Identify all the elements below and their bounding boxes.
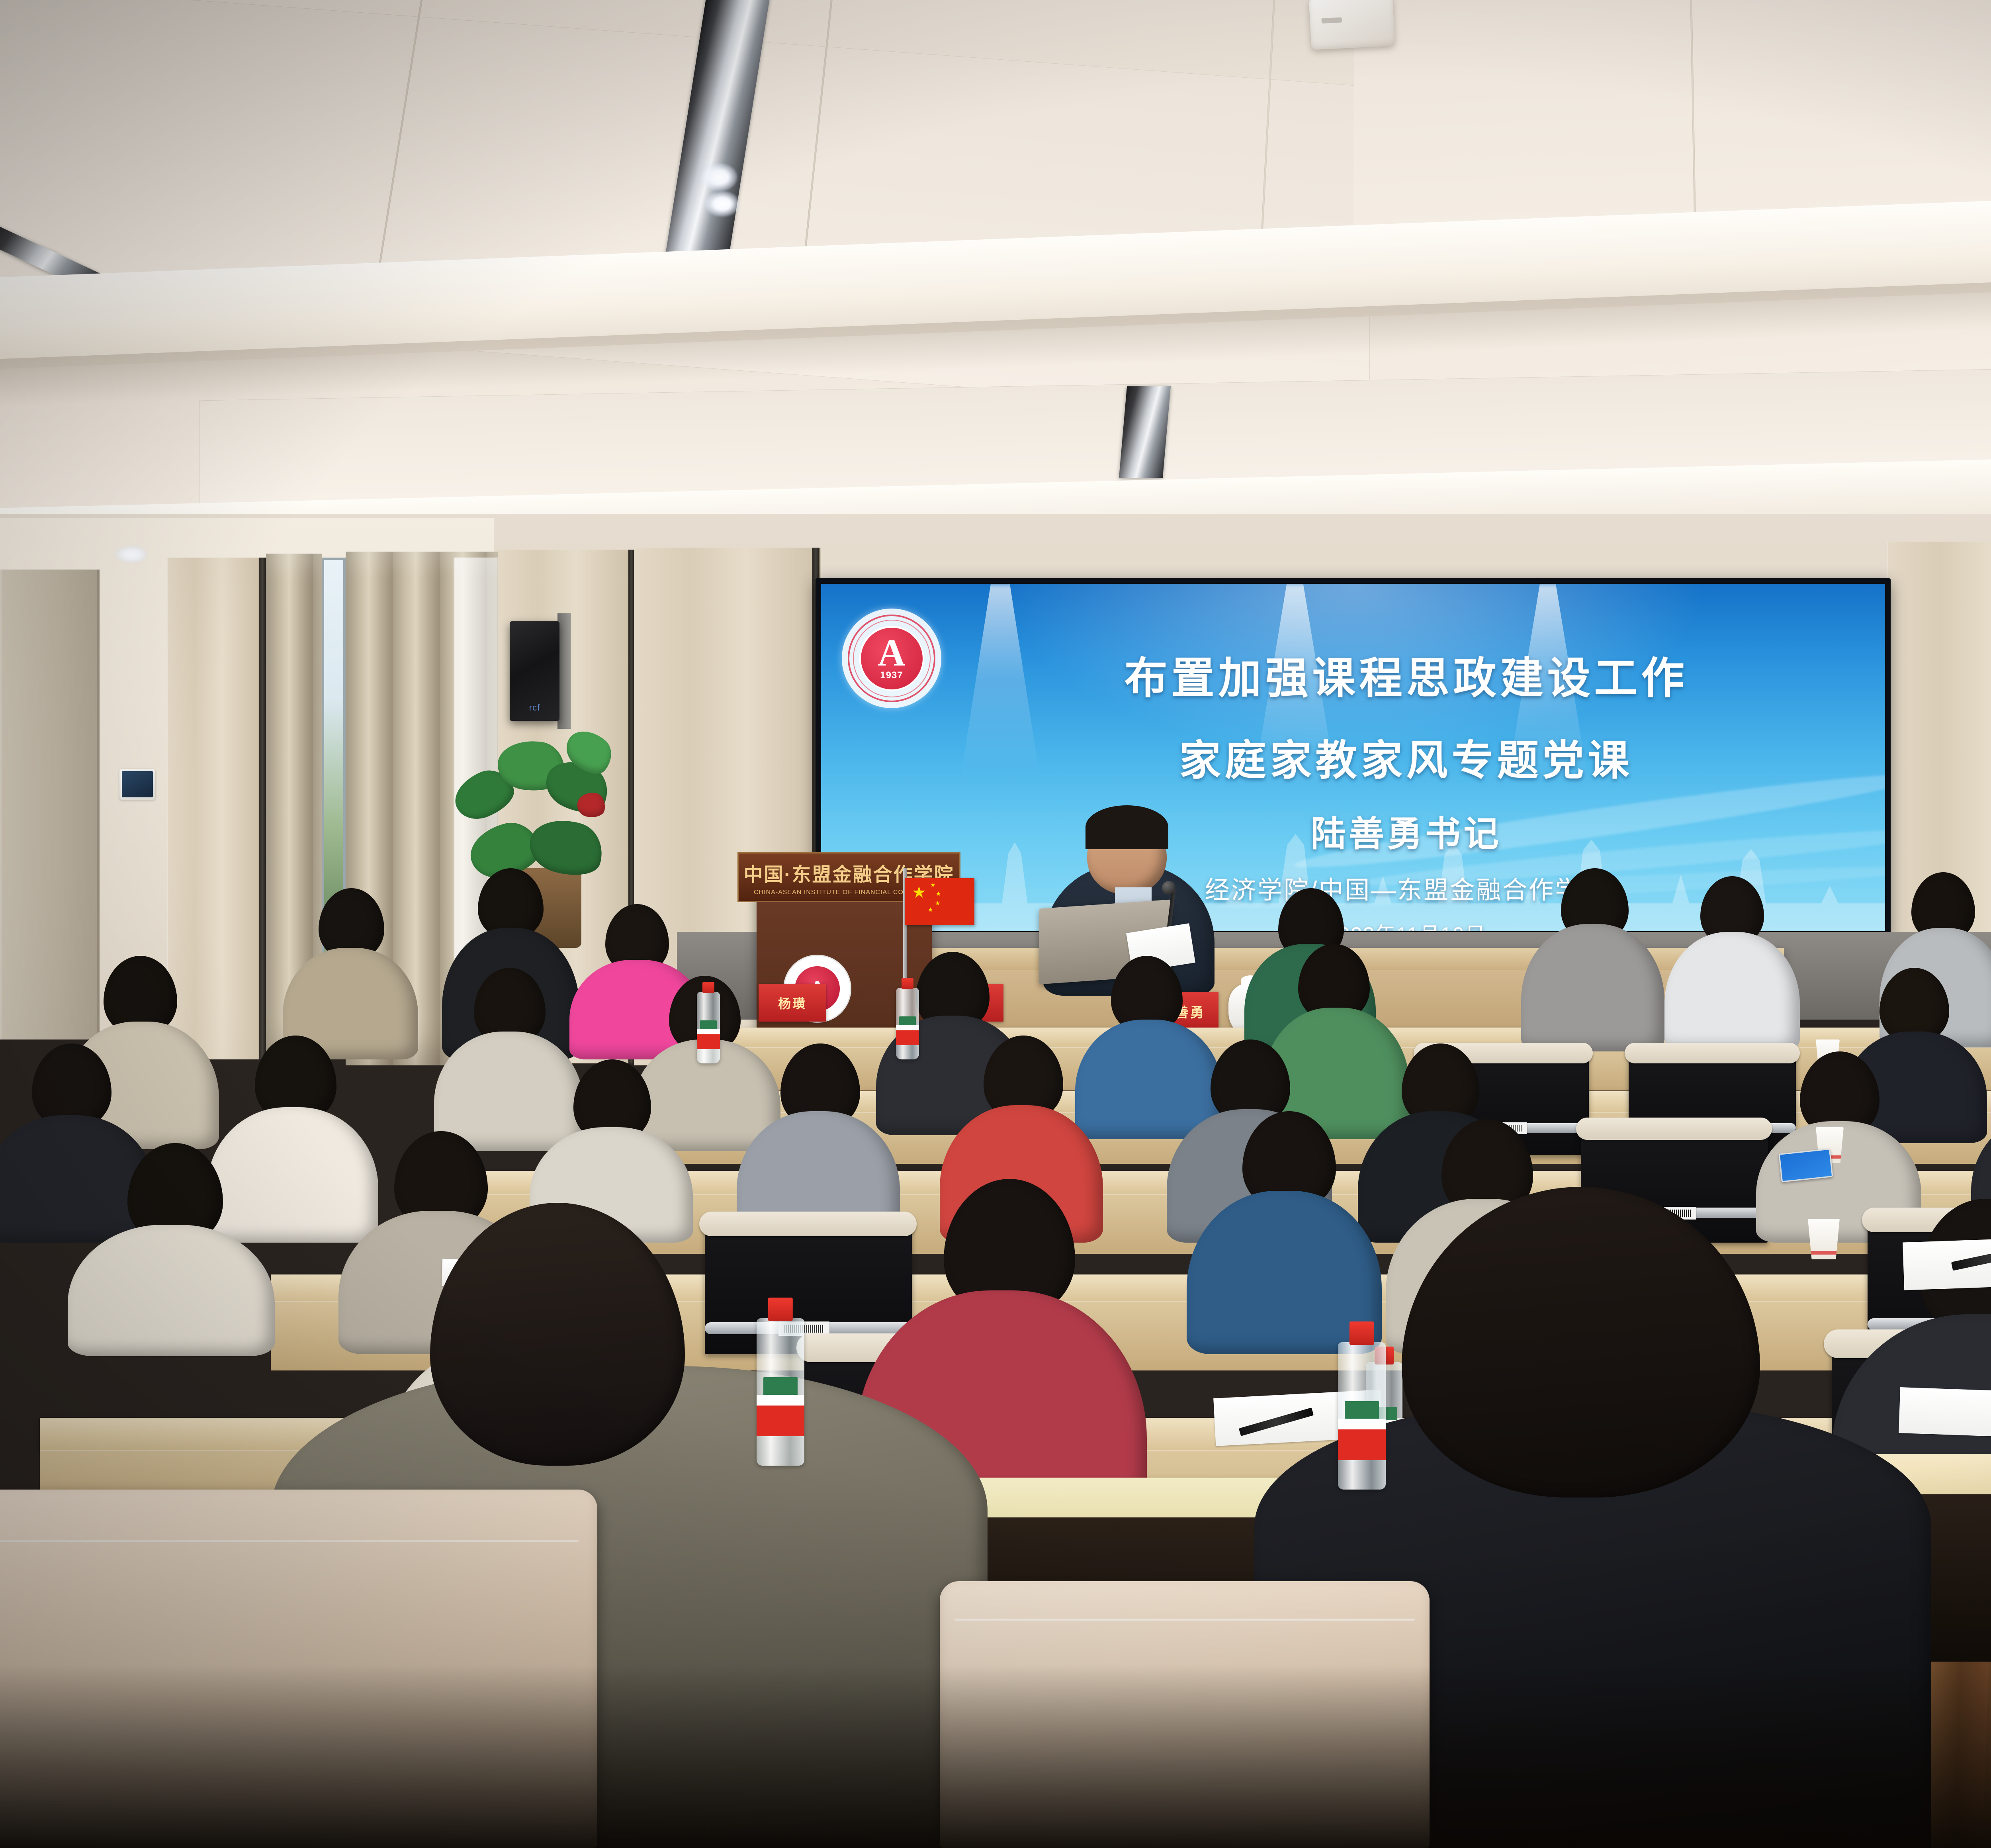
ceiling-light-trough-lower (1119, 386, 1171, 478)
bottle-label (896, 1025, 919, 1045)
wall-wood-panel-left (167, 558, 259, 1059)
bottle-cap (902, 978, 913, 989)
emblem-year: 1937 (880, 670, 903, 681)
bottle-label (1338, 1419, 1386, 1460)
university-emblem-icon: A 1937 (842, 609, 941, 708)
ceiling-downlight-a (701, 163, 737, 191)
speaker-badge-left: rcf (529, 703, 540, 713)
flag-star-small: ★ (930, 882, 935, 888)
chair-headrest (1625, 1043, 1800, 1063)
ceiling-downlight-b (705, 191, 740, 217)
smoke-detector-icon (1309, 0, 1395, 50)
bottle-cap (1349, 1321, 1374, 1345)
china-flag-icon: ★ ★ ★ ★ ★ (905, 878, 974, 925)
paper-cup (1808, 1219, 1840, 1259)
screen-title-line-1: 布置加强课程思政建设工作 (959, 644, 1853, 706)
flag-star-small: ★ (935, 901, 940, 906)
foreground-shadow (0, 1665, 1991, 1848)
handout-paper (1899, 1387, 1991, 1439)
wall-control-panel[interactable] (119, 769, 155, 800)
chair-headrest (699, 1212, 917, 1236)
water-bottle-foreground-b (1338, 1342, 1386, 1490)
flag-star-small: ★ (928, 907, 933, 913)
cup-band (1810, 1251, 1837, 1255)
flag-star-small: ★ (936, 891, 941, 897)
water-bottle (896, 988, 919, 1059)
bottle-label (757, 1395, 804, 1436)
attendee-body (207, 1107, 378, 1243)
attendee-body (68, 1225, 275, 1356)
speaker-bracket-left (557, 613, 571, 729)
name-card-left: 杨璜 (759, 984, 826, 1022)
wall-panel-gap-left (259, 558, 266, 1059)
name-card-text: 杨璜 (778, 994, 807, 1012)
microphone-capsule-icon (1162, 881, 1175, 895)
lecture-hall-photo: rcf rcf A 1937 (0, 0, 1991, 1848)
control-panel-screen (122, 771, 153, 797)
room-door[interactable] (0, 570, 100, 1039)
emblem-glyph: A (878, 636, 905, 670)
water-bottle-foreground-a (757, 1318, 804, 1466)
bottle-cap (768, 1298, 793, 1321)
downlight-left-1 (115, 546, 147, 563)
screen-title-line-2: 家庭家教家风专题党课 (959, 726, 1853, 787)
leaf (524, 811, 609, 883)
chair-headrest (1576, 1118, 1772, 1140)
presenter-hair (1085, 805, 1168, 849)
bottle-label (697, 1029, 720, 1049)
flag-star-big: ★ (912, 885, 926, 901)
smartphone-on-desk[interactable] (1779, 1148, 1833, 1182)
bottle-cap (702, 982, 714, 993)
water-bottle (697, 992, 720, 1063)
emblem-core: A 1937 (861, 628, 923, 689)
wall-speaker-left: rcf (510, 621, 559, 721)
